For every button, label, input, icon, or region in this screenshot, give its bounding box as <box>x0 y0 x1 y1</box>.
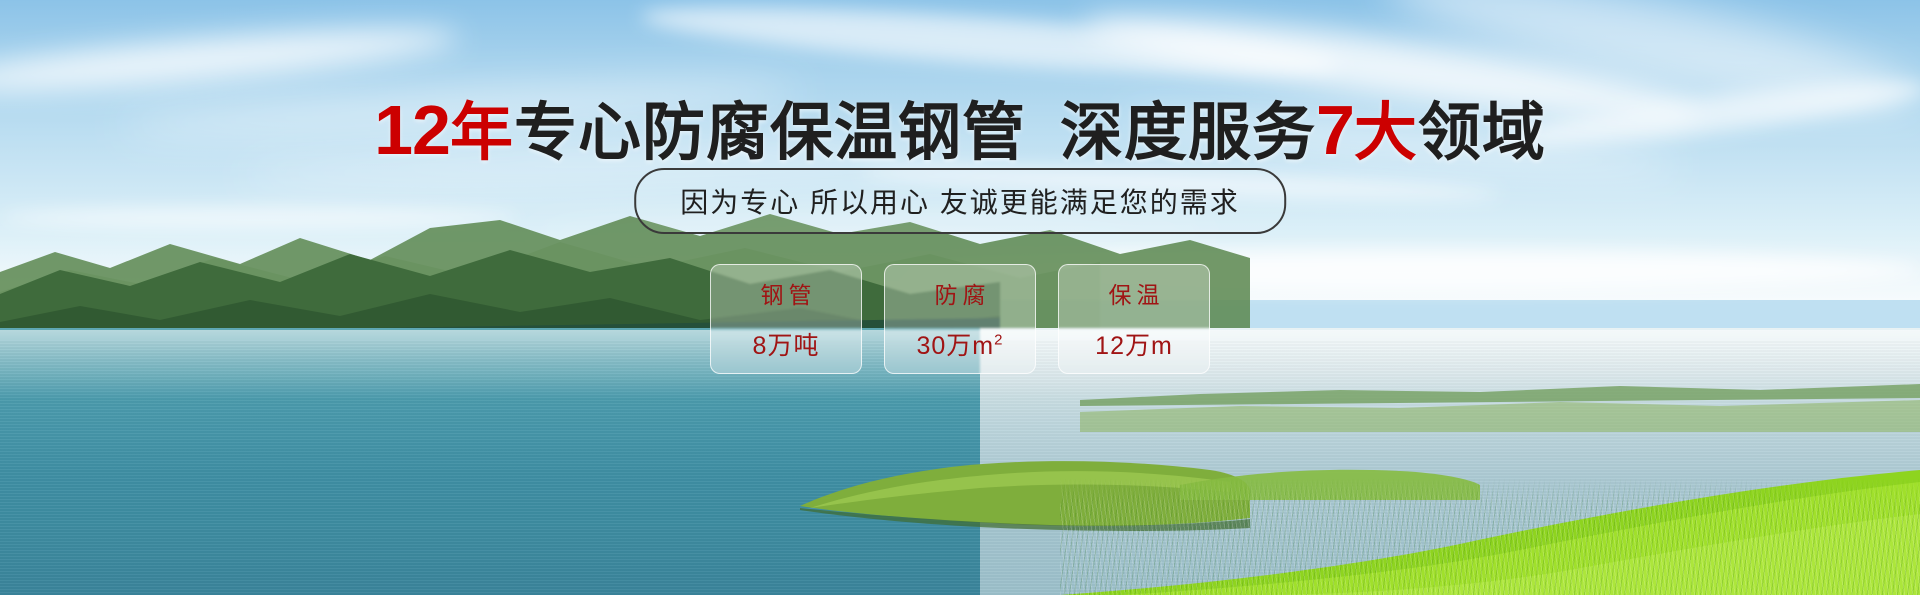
stat-card-value-text: 12万m <box>1095 332 1173 360</box>
stat-card-anticorrosion: 防腐 30万m2 <box>884 264 1036 374</box>
grass-blade-texture <box>1060 478 1920 595</box>
headline-years-number: 12 <box>374 91 450 169</box>
headline-fields-text: 领域 <box>1418 98 1546 168</box>
stat-card-label: 钢管 <box>756 276 817 310</box>
hero-banner: 12年专心防腐保温钢管深度服务7大领域 因为专心 所以用心 友诚更能满足您的需求… <box>0 0 1920 595</box>
subtitle-pill: 因为专心 所以用心 友诚更能满足您的需求 <box>634 168 1286 234</box>
stat-card-label: 防腐 <box>930 276 991 310</box>
page-title: 12年专心防腐保温钢管深度服务7大领域 <box>0 82 1920 173</box>
stat-cards: 钢管 8万吨 防腐 30万m2 保温 12万m <box>710 264 1210 374</box>
headline-service-text: 深度服务 <box>1060 98 1316 168</box>
stat-card-value: 12万m <box>1095 326 1173 362</box>
headline-fields-number: 7 <box>1316 91 1354 169</box>
stat-card-value: 30万m2 <box>917 326 1004 362</box>
stat-card-value-sup: 2 <box>994 332 1003 349</box>
stat-card-steel-pipe: 钢管 8万吨 <box>710 264 862 374</box>
headline-years-unit: 年 <box>450 98 514 168</box>
headline-main-text: 专心防腐保温钢管 <box>514 98 1026 168</box>
stat-card-insulation: 保温 12万m <box>1058 264 1210 374</box>
headline-fields-unit: 大 <box>1354 98 1418 168</box>
stat-card-value-text: 8万吨 <box>753 332 820 360</box>
stat-card-label: 保温 <box>1104 276 1165 310</box>
stat-card-value: 8万吨 <box>753 326 820 362</box>
far-shoreline <box>1080 372 1920 432</box>
stat-card-value-text: 30万m <box>917 332 995 360</box>
